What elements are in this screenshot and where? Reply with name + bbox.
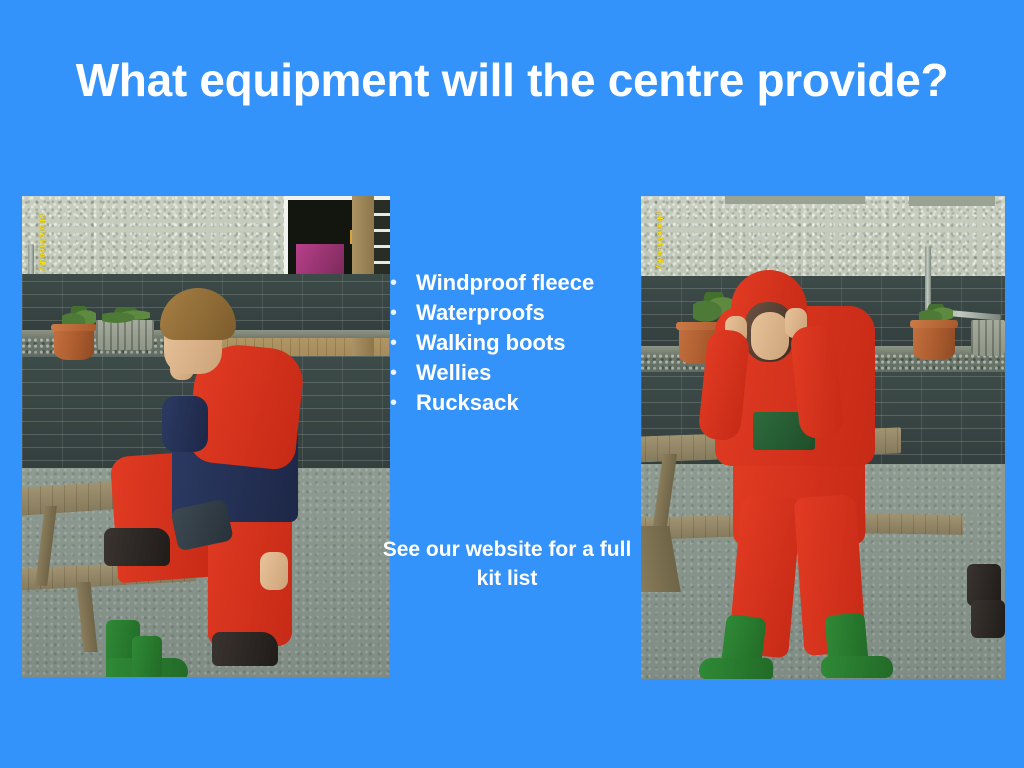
bullet-icon: • — [386, 388, 416, 418]
bench-seat-right — [853, 513, 963, 535]
photo-right: photofriendly — [641, 196, 1005, 679]
figure-left-hand — [260, 552, 288, 590]
welly-left-foot — [699, 658, 773, 679]
website-note: See our website for a full kit list — [382, 536, 632, 593]
list-item: • Rucksack — [386, 388, 632, 418]
figure-left-boot-raised — [104, 528, 170, 566]
downpipe — [925, 246, 931, 312]
equipment-bullet-list: • Windproof fleece • Waterproofs • Walki… — [386, 268, 632, 418]
figure-left-boot-standing — [212, 632, 278, 666]
bullet-icon: • — [386, 358, 416, 388]
photo-left: photofriendly — [22, 196, 390, 677]
list-item: • Wellies — [386, 358, 632, 388]
bullet-label: Wellies — [416, 358, 632, 388]
plant-pot-terracotta-right — [913, 320, 955, 360]
photo-watermark: photofriendly — [655, 212, 664, 270]
welly-right — [132, 636, 162, 677]
bullet-label: Windproof fleece — [416, 268, 632, 298]
figure-right-face — [751, 312, 789, 360]
bullet-label: Waterproofs — [416, 298, 632, 328]
welly-right-foot — [821, 656, 893, 678]
planter-far-right — [971, 320, 1005, 356]
pebbledash-wall — [641, 196, 1005, 280]
list-item: • Walking boots — [386, 328, 632, 358]
wall-shadow-band — [725, 196, 865, 204]
figure-left-arm — [162, 396, 208, 452]
window-object-pink — [296, 244, 344, 274]
bullet-label: Rucksack — [416, 388, 632, 418]
slide-canvas: What equipment will the centre provide? — [0, 0, 1024, 768]
page-title: What equipment will the centre provide? — [72, 50, 952, 111]
wall-shadow-band-2 — [909, 196, 995, 206]
stray-boot-b — [971, 600, 1005, 638]
bullet-icon: • — [386, 328, 416, 358]
list-item: • Waterproofs — [386, 298, 632, 328]
bullet-icon: • — [386, 268, 416, 298]
list-item: • Windproof fleece — [386, 268, 632, 298]
plant-trough — [102, 308, 150, 324]
plant-pot-terracotta — [54, 324, 94, 360]
photo-watermark: photofriendly — [38, 214, 47, 272]
bullet-label: Walking boots — [416, 328, 632, 358]
planter-trough — [96, 320, 154, 350]
bullet-icon: • — [386, 298, 416, 328]
